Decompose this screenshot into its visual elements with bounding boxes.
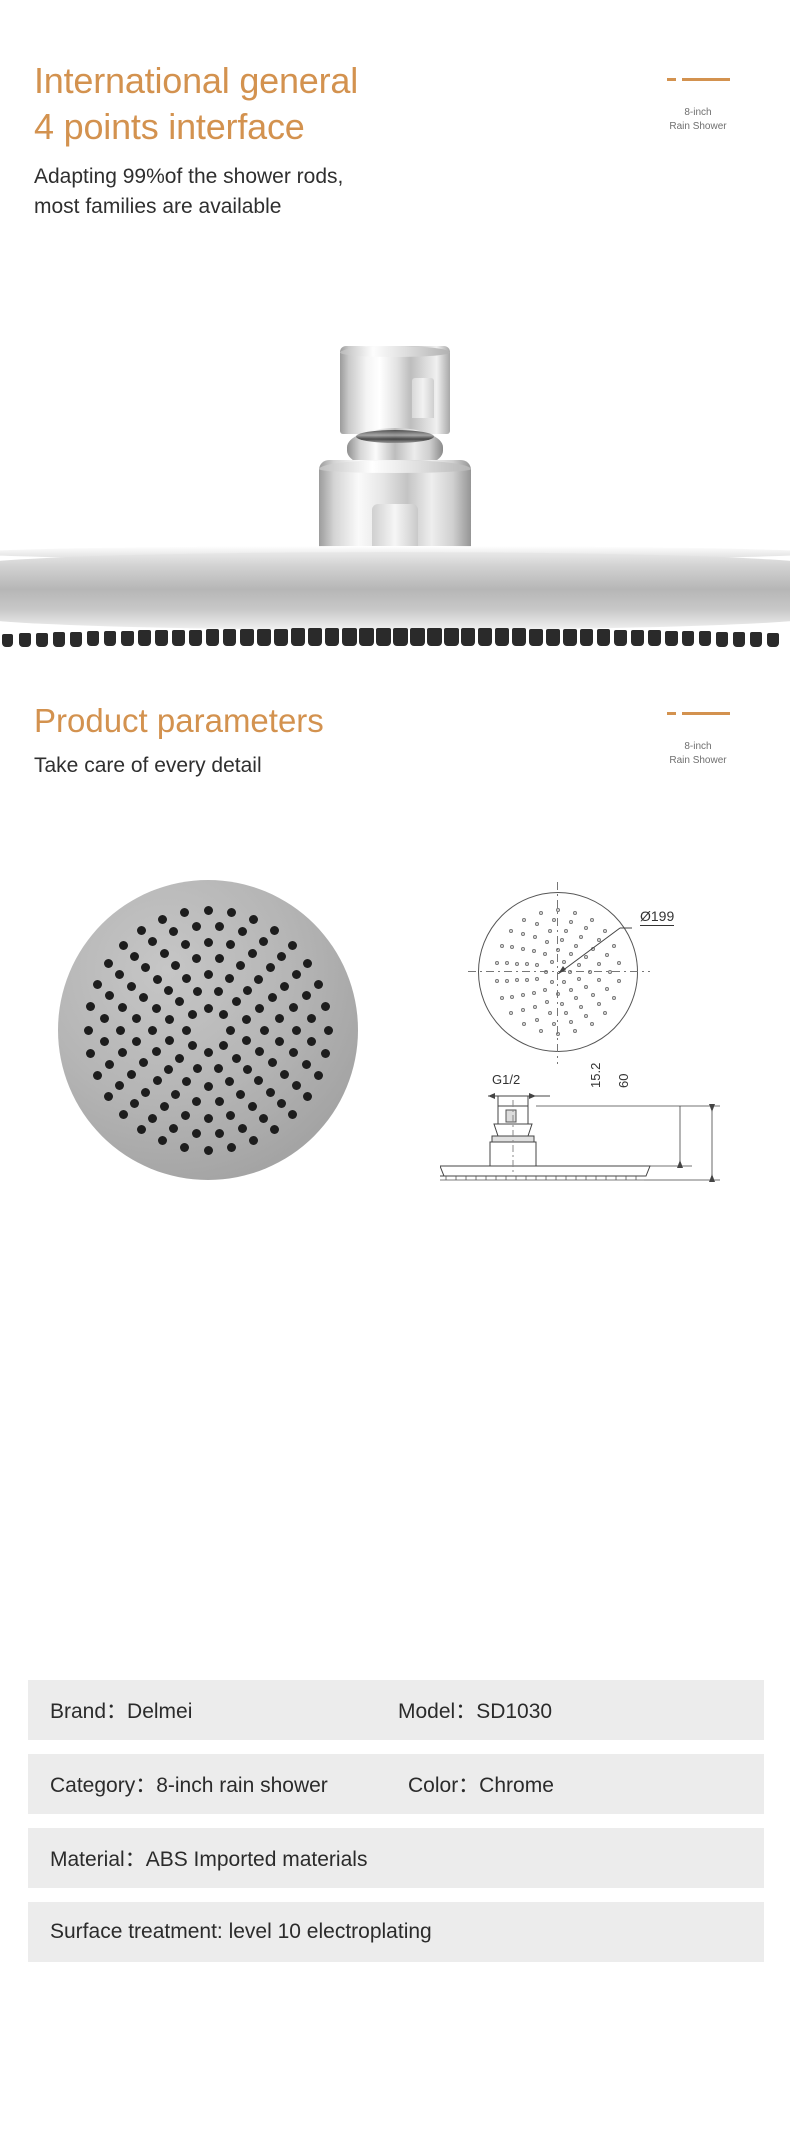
spec-row: Category：8-inch rain showerColor：Chrome bbox=[28, 1754, 764, 1814]
nozzle-hole bbox=[105, 991, 114, 1000]
nozzle-hole bbox=[164, 986, 173, 995]
nozzle-hole-schematic bbox=[522, 918, 526, 922]
nozzle-hole bbox=[204, 906, 213, 915]
connector-notch bbox=[412, 378, 434, 418]
nozzle-hole-schematic bbox=[532, 949, 536, 953]
connector-upper-nut bbox=[340, 346, 450, 434]
nozzle-hole bbox=[303, 959, 312, 968]
badge-dash-group bbox=[618, 74, 778, 84]
corner-badge-top: 8-inch Rain Shower bbox=[618, 74, 778, 134]
nozzle-hole-schematic bbox=[500, 996, 504, 1000]
nozzle-hole-schematic bbox=[515, 978, 519, 982]
nozzle-hole bbox=[248, 949, 257, 958]
nozzle-hole bbox=[139, 993, 148, 1002]
nozzle-hole-schematic bbox=[509, 929, 513, 933]
shower-head-side-band bbox=[0, 552, 790, 630]
nozzle-hole-schematic bbox=[603, 1011, 607, 1015]
nozzle-hole-schematic bbox=[550, 960, 554, 964]
nozzle-hole-schematic bbox=[521, 947, 525, 951]
nozzle bbox=[563, 629, 577, 646]
nozzle bbox=[665, 631, 678, 647]
nozzle-hole bbox=[132, 1037, 141, 1046]
nozzle-hole bbox=[266, 1088, 275, 1097]
nozzle-hole bbox=[84, 1026, 93, 1035]
nozzle bbox=[682, 631, 694, 646]
nozzle bbox=[274, 629, 288, 646]
nozzle-hole bbox=[118, 1048, 127, 1057]
nozzle-hole bbox=[204, 938, 213, 947]
nozzle-hole bbox=[314, 1071, 323, 1080]
nozzle-hole-schematic bbox=[535, 977, 539, 981]
nozzle-hole-schematic bbox=[545, 940, 549, 944]
nozzle-hole-schematic bbox=[521, 932, 525, 936]
nozzle bbox=[767, 633, 779, 647]
nozzle bbox=[53, 632, 65, 646]
nozzle-hole bbox=[148, 1026, 157, 1035]
nozzle bbox=[291, 628, 305, 645]
nozzle-hole-schematic bbox=[584, 985, 588, 989]
thread-size-label: G1/2 bbox=[492, 1072, 520, 1087]
nozzle-hole bbox=[118, 1003, 127, 1012]
nozzle-hole bbox=[93, 980, 102, 989]
nozzle-hole bbox=[303, 1092, 312, 1101]
nozzle-hole bbox=[204, 1146, 213, 1155]
nozzle-hole bbox=[227, 1143, 236, 1152]
nozzle bbox=[172, 630, 185, 646]
nozzle-hole bbox=[104, 959, 113, 968]
nozzle-hole-schematic bbox=[569, 1020, 573, 1024]
nozzle-hole bbox=[242, 1015, 251, 1024]
nozzle-hole-schematic bbox=[579, 1005, 583, 1009]
nozzle bbox=[478, 628, 492, 646]
nozzle-hole bbox=[292, 1081, 301, 1090]
nozzle-hole bbox=[314, 980, 323, 989]
nozzle bbox=[359, 628, 374, 646]
nozzle-hole-schematic bbox=[545, 1000, 549, 1004]
shower-face-photo bbox=[58, 880, 358, 1180]
specification-table: Brand：DelmeiModel：SD1030Category：8-inch … bbox=[28, 1680, 764, 1976]
nozzle-hole bbox=[104, 1092, 113, 1101]
nozzle-hole bbox=[130, 952, 139, 961]
nozzle-hole bbox=[158, 1136, 167, 1145]
nozzle-hole bbox=[193, 987, 202, 996]
nozzle-hole bbox=[115, 1081, 124, 1090]
nozzle-hole bbox=[116, 1026, 125, 1035]
dash-short-icon bbox=[667, 78, 676, 81]
nozzle-hole-schematic bbox=[564, 1011, 568, 1015]
badge-dash-group bbox=[618, 708, 778, 718]
nozzle-hole-schematic bbox=[574, 996, 578, 1000]
nozzle-hole-schematic bbox=[495, 961, 499, 965]
nozzle-hole-schematic bbox=[548, 929, 552, 933]
nozzle-hole bbox=[165, 1036, 174, 1045]
nozzle-hole-schematic bbox=[548, 1011, 552, 1015]
nozzle bbox=[393, 628, 408, 646]
nozzle-hole bbox=[192, 922, 201, 931]
nozzle-row bbox=[0, 626, 790, 652]
nozzle-hole bbox=[193, 1064, 202, 1073]
nozzle-hole-schematic bbox=[525, 978, 529, 982]
nozzle-hole bbox=[255, 1004, 264, 1013]
nozzle-hole-schematic bbox=[577, 977, 581, 981]
nozzle-hole-schematic bbox=[584, 1014, 588, 1018]
nozzle-hole bbox=[175, 1054, 184, 1063]
dash-short-icon bbox=[667, 712, 676, 715]
nozzle bbox=[427, 628, 442, 646]
nozzle bbox=[614, 630, 627, 646]
connector-base bbox=[319, 460, 471, 556]
nozzle-hole-schematic bbox=[591, 993, 595, 997]
nozzle-hole-schematic bbox=[505, 961, 509, 965]
nozzle-hole bbox=[288, 1110, 297, 1119]
nozzle-hole bbox=[164, 1065, 173, 1074]
nozzle-hole bbox=[266, 963, 275, 972]
nozzle-hole-schematic bbox=[617, 979, 621, 983]
nozzle-hole bbox=[181, 940, 190, 949]
nozzle-hole bbox=[182, 974, 191, 983]
nozzle-hole bbox=[160, 949, 169, 958]
nozzle-hole bbox=[288, 941, 297, 950]
nozzle bbox=[580, 629, 593, 646]
nozzle-hole bbox=[238, 927, 247, 936]
nozzle-hole bbox=[132, 1014, 141, 1023]
drawings-area: Ø199 G1/2 bbox=[0, 860, 790, 1190]
spec-row: Material：ABS Imported materials bbox=[28, 1828, 764, 1888]
nozzle bbox=[733, 632, 745, 647]
nozzle-hole bbox=[139, 1058, 148, 1067]
section-two-subtitle: Take care of every detail bbox=[34, 752, 554, 780]
technical-side-view: G1/2 bbox=[440, 1072, 770, 1182]
section-one-heading-block: International general 4 points interface… bbox=[34, 58, 554, 222]
spec-right-cell: Model：SD1030 bbox=[398, 1695, 552, 1725]
nozzle-hole bbox=[232, 997, 241, 1006]
nozzle-hole bbox=[248, 1102, 257, 1111]
nozzle-hole bbox=[137, 926, 146, 935]
nozzle-hole-schematic bbox=[597, 1002, 601, 1006]
nozzle-hole-schematic bbox=[573, 911, 577, 915]
nozzle-hole bbox=[141, 963, 150, 972]
nozzle-hole-schematic bbox=[535, 922, 539, 926]
nozzle-hole bbox=[307, 1014, 316, 1023]
nozzle-hole bbox=[254, 975, 263, 984]
nozzle-hole-schematic bbox=[509, 1011, 513, 1015]
section-two-heading-block: Product parameters Take care of every de… bbox=[34, 700, 554, 780]
nozzle-hole-schematic bbox=[569, 988, 573, 992]
nozzle-hole bbox=[324, 1026, 333, 1035]
nozzle-hole bbox=[169, 927, 178, 936]
nozzle-hole bbox=[153, 975, 162, 984]
nozzle bbox=[257, 629, 271, 646]
nozzle-hole bbox=[100, 1014, 109, 1023]
nozzle-hole bbox=[275, 1037, 284, 1046]
nozzle bbox=[529, 629, 543, 646]
nozzle bbox=[461, 628, 475, 646]
nozzle-hole bbox=[93, 1071, 102, 1080]
spec-left-cell: Category：8-inch rain shower bbox=[50, 1769, 328, 1799]
nozzle-hole bbox=[204, 1082, 213, 1091]
dash-long-icon bbox=[682, 712, 730, 715]
height-dimension-label: 15.2 bbox=[588, 1063, 603, 1088]
nozzle-hole bbox=[289, 1048, 298, 1057]
connector-seal-ring bbox=[356, 430, 434, 443]
nozzle bbox=[648, 630, 661, 646]
nozzle-hole bbox=[260, 1026, 269, 1035]
nozzle bbox=[308, 628, 322, 646]
nozzle-hole-schematic bbox=[495, 979, 499, 983]
nozzle-hole bbox=[171, 961, 180, 970]
nozzle-hole bbox=[215, 954, 224, 963]
nozzle-hole bbox=[321, 1049, 330, 1058]
nozzle-hole bbox=[270, 926, 279, 935]
nozzle-hole bbox=[148, 937, 157, 946]
badge-label: 8-inch Rain Shower bbox=[618, 106, 778, 134]
nozzle-hole-schematic bbox=[515, 962, 519, 966]
nozzle-hole bbox=[243, 986, 252, 995]
nozzle-hole bbox=[204, 970, 213, 979]
section-two-title: Product parameters bbox=[34, 700, 554, 742]
diameter-leader-line bbox=[558, 922, 632, 974]
spec-left-cell: Surface treatment: level 10 electroplati… bbox=[50, 1920, 432, 1944]
nozzle-hole bbox=[188, 1010, 197, 1019]
nozzle-hole bbox=[277, 952, 286, 961]
nozzle-hole bbox=[127, 1070, 136, 1079]
nozzle-hole bbox=[259, 1114, 268, 1123]
nozzle-hole bbox=[226, 1111, 235, 1120]
nozzle-hole bbox=[226, 1026, 235, 1035]
nozzle-hole bbox=[254, 1076, 263, 1085]
nozzle-hole bbox=[268, 993, 277, 1002]
nozzle-hole bbox=[243, 1065, 252, 1074]
nozzle-hole bbox=[180, 908, 189, 917]
nozzle bbox=[597, 629, 610, 646]
nozzle-hole bbox=[225, 1077, 234, 1086]
nozzle bbox=[631, 630, 644, 646]
nozzle-hole bbox=[141, 1088, 150, 1097]
nozzle bbox=[104, 631, 116, 646]
nozzle-hole-schematic bbox=[525, 962, 529, 966]
nozzle bbox=[189, 630, 202, 647]
nozzle-hole bbox=[277, 1099, 286, 1108]
nozzle-hole-schematic bbox=[605, 987, 609, 991]
nozzle-hole-schematic bbox=[533, 935, 537, 939]
nozzle-hole bbox=[307, 1037, 316, 1046]
nozzle-hole-schematic bbox=[535, 1018, 539, 1022]
nozzle bbox=[19, 633, 31, 647]
nozzle-hole bbox=[160, 1102, 169, 1111]
nozzle-hole-schematic bbox=[552, 918, 556, 922]
spec-left-cell: Brand：Delmei bbox=[50, 1695, 192, 1725]
nozzle-hole-schematic bbox=[550, 980, 554, 984]
nozzle-hole bbox=[215, 1097, 224, 1106]
nozzle bbox=[2, 634, 13, 647]
nozzle-hole bbox=[86, 1049, 95, 1058]
nozzle-hole bbox=[236, 961, 245, 970]
nozzle-hole-schematic bbox=[505, 979, 509, 983]
nozzle-hole bbox=[249, 915, 258, 924]
nozzle-hole bbox=[214, 1064, 223, 1073]
nozzle-hole bbox=[152, 1047, 161, 1056]
side-view-drawing bbox=[440, 1090, 770, 1200]
nozzle-hole-schematic bbox=[560, 1002, 564, 1006]
nozzle-hole bbox=[192, 1097, 201, 1106]
nozzle-hole-schematic bbox=[532, 991, 536, 995]
nozzle-hole bbox=[105, 1060, 114, 1069]
nozzle-hole bbox=[226, 940, 235, 949]
nozzle bbox=[376, 628, 391, 646]
nozzle-hole bbox=[204, 1114, 213, 1123]
nozzle-hole bbox=[182, 1077, 191, 1086]
nozzle-hole bbox=[321, 1002, 330, 1011]
nozzle-hole bbox=[127, 982, 136, 991]
nozzle-hole-schematic bbox=[533, 1005, 537, 1009]
nozzle-hole bbox=[119, 941, 128, 950]
nozzle-hole bbox=[219, 1010, 228, 1019]
nozzle-hole bbox=[302, 1060, 311, 1069]
nozzle-hole bbox=[270, 1125, 279, 1134]
nozzle-hole bbox=[275, 1014, 284, 1023]
nozzle-hole bbox=[227, 908, 236, 917]
nozzle-hole bbox=[280, 982, 289, 991]
nozzle-hole bbox=[165, 1015, 174, 1024]
nozzle-hole-schematic bbox=[543, 952, 547, 956]
nozzle-hole bbox=[152, 1004, 161, 1013]
nozzle-hole-schematic bbox=[597, 978, 601, 982]
nozzle-hole-schematic bbox=[590, 1022, 594, 1026]
nozzle-hole bbox=[192, 1129, 201, 1138]
nozzle-hole bbox=[214, 987, 223, 996]
nozzle-hole bbox=[171, 1090, 180, 1099]
nozzle bbox=[138, 630, 151, 646]
nozzle bbox=[223, 629, 236, 646]
spec-row: Brand：DelmeiModel：SD1030 bbox=[28, 1680, 764, 1740]
nozzle-hole-schematic bbox=[543, 988, 547, 992]
nozzle-hole bbox=[204, 1048, 213, 1057]
spec-left-cell: Material：ABS Imported materials bbox=[50, 1843, 367, 1873]
nozzle-hole bbox=[148, 1114, 157, 1123]
nozzle-hole-schematic bbox=[539, 911, 543, 915]
nozzle-hole bbox=[255, 1047, 264, 1056]
nozzle-hole bbox=[130, 1099, 139, 1108]
nozzle-hole bbox=[115, 970, 124, 979]
nozzle bbox=[325, 628, 339, 646]
nozzle bbox=[750, 632, 762, 646]
nozzle-hole-schematic bbox=[539, 1029, 543, 1033]
nozzle bbox=[240, 629, 254, 646]
nozzle-hole bbox=[236, 1090, 245, 1099]
product-detail-page: International general 4 points interface… bbox=[0, 0, 790, 2154]
nozzle-hole bbox=[242, 1036, 251, 1045]
nozzle bbox=[495, 628, 509, 646]
nozzle bbox=[512, 628, 526, 645]
diameter-label: Ø199 bbox=[640, 908, 674, 926]
section-one-subtitle: Adapting 99%of the shower rods, most fam… bbox=[34, 162, 554, 222]
nozzle-hole-schematic bbox=[573, 1029, 577, 1033]
overall-dimension-label: 60 bbox=[616, 1074, 631, 1088]
nozzle-hole bbox=[259, 937, 268, 946]
nozzle-hole-schematic bbox=[510, 945, 514, 949]
nozzle bbox=[70, 632, 82, 647]
spec-row: Surface treatment: level 10 electroplati… bbox=[28, 1902, 764, 1962]
nozzle bbox=[699, 631, 711, 646]
nozzle-hole bbox=[86, 1002, 95, 1011]
nozzle-hole bbox=[238, 1124, 247, 1133]
nozzle bbox=[716, 632, 728, 647]
nozzle bbox=[155, 630, 168, 646]
section-one-title: International general 4 points interface bbox=[34, 58, 554, 150]
nozzle bbox=[342, 628, 357, 646]
nozzle bbox=[36, 633, 48, 647]
nozzle-hole bbox=[225, 974, 234, 983]
nozzle-hole-schematic bbox=[612, 996, 616, 1000]
nozzle bbox=[121, 631, 134, 647]
nozzle-hole bbox=[169, 1124, 178, 1133]
nozzle-hole bbox=[292, 970, 301, 979]
nozzle-hole bbox=[292, 1026, 301, 1035]
nozzle-hole bbox=[100, 1037, 109, 1046]
nozzle bbox=[444, 628, 459, 646]
spec-right-cell: Color：Chrome bbox=[408, 1769, 554, 1799]
nozzle-hole bbox=[188, 1041, 197, 1050]
nozzle-hole bbox=[219, 1041, 228, 1050]
badge-label: 8-inch Rain Shower bbox=[618, 740, 778, 768]
dash-long-icon bbox=[682, 78, 730, 81]
nozzle-hole-schematic bbox=[562, 980, 566, 984]
nozzle bbox=[87, 631, 99, 646]
nozzle-hole bbox=[204, 1004, 213, 1013]
nozzle-hole bbox=[153, 1076, 162, 1085]
nozzle-hole bbox=[192, 954, 201, 963]
nozzle bbox=[206, 629, 219, 646]
nozzle-hole bbox=[302, 991, 311, 1000]
nozzle-hole bbox=[175, 997, 184, 1006]
nozzle-hole bbox=[158, 915, 167, 924]
nozzle-hole bbox=[137, 1125, 146, 1134]
nozzle-hole bbox=[119, 1110, 128, 1119]
nozzle-hole bbox=[232, 1054, 241, 1063]
nozzle-hole-schematic bbox=[522, 1022, 526, 1026]
corner-badge-bottom: 8-inch Rain Shower bbox=[618, 708, 778, 768]
nozzle-hole-schematic bbox=[521, 1008, 525, 1012]
nozzle-hole bbox=[268, 1058, 277, 1067]
nozzle bbox=[546, 629, 560, 646]
nozzle-hole bbox=[180, 1143, 189, 1152]
nozzle-hole bbox=[182, 1026, 191, 1035]
nozzle-hole bbox=[280, 1070, 289, 1079]
nozzle-hole-schematic bbox=[552, 1022, 556, 1026]
nozzle-hole-schematic bbox=[535, 963, 539, 967]
nozzle-hole bbox=[215, 922, 224, 931]
nozzle-hole bbox=[249, 1136, 258, 1145]
nozzle-hole bbox=[289, 1003, 298, 1012]
nozzle-hole-schematic bbox=[521, 993, 525, 997]
nozzle-hole-schematic bbox=[510, 995, 514, 999]
nozzle bbox=[410, 628, 425, 646]
nozzle-hole-schematic bbox=[500, 944, 504, 948]
nozzle-hole bbox=[181, 1111, 190, 1120]
nozzle-hole bbox=[215, 1129, 224, 1138]
